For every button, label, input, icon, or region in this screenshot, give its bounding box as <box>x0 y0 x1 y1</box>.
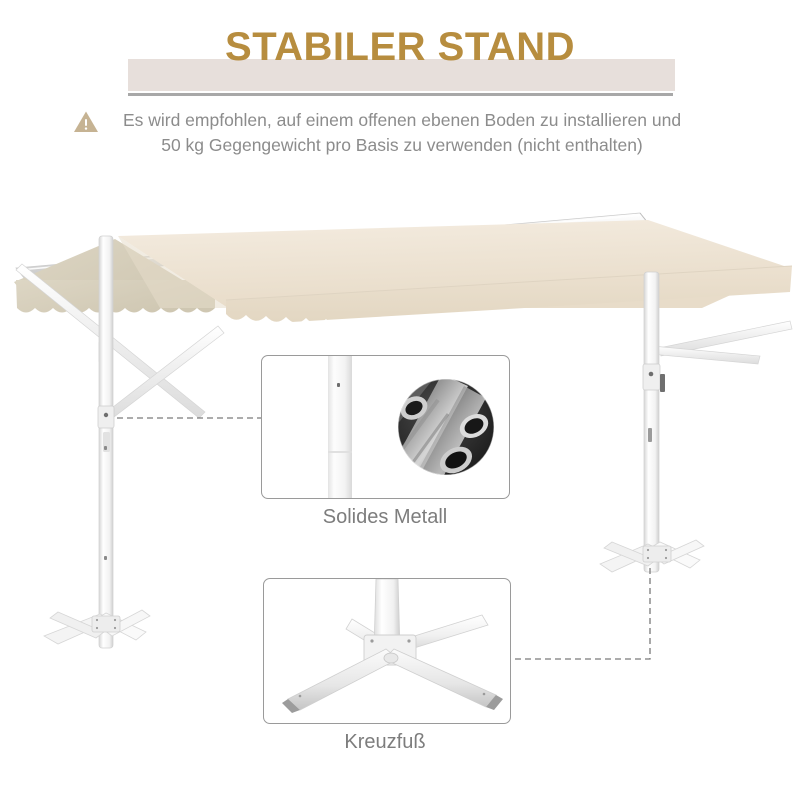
metal-tubes-inset <box>384 370 494 490</box>
callout-label-cross-foot: Kreuzfuß <box>255 731 515 754</box>
right-support-assembly <box>600 272 792 572</box>
hub-center-cap <box>384 653 398 663</box>
pole-segment <box>328 356 352 498</box>
warning-triangle-icon <box>73 110 99 134</box>
right-pole <box>644 272 659 572</box>
callout-label-solid-metal: Solides Metall <box>255 506 515 529</box>
recommendation-note: Es wird empfohlen, auf einem offenen ebe… <box>112 108 692 157</box>
left-cross-foot <box>44 610 150 644</box>
callout-solid-metal <box>261 355 510 499</box>
callout-crossfoot-figure <box>264 579 510 723</box>
infographic-page: STABILER STAND Es wird empfohlen, auf ei… <box>0 0 800 800</box>
callout-metal-figure <box>262 356 509 498</box>
callout-cross-foot <box>263 578 511 724</box>
title-underline-rule <box>128 93 673 96</box>
page-title: STABILER STAND <box>0 22 800 72</box>
cross-arm-front-left <box>288 649 398 710</box>
cross-arm-front-right <box>384 649 496 707</box>
pole-screw-hole-icon <box>337 383 340 387</box>
